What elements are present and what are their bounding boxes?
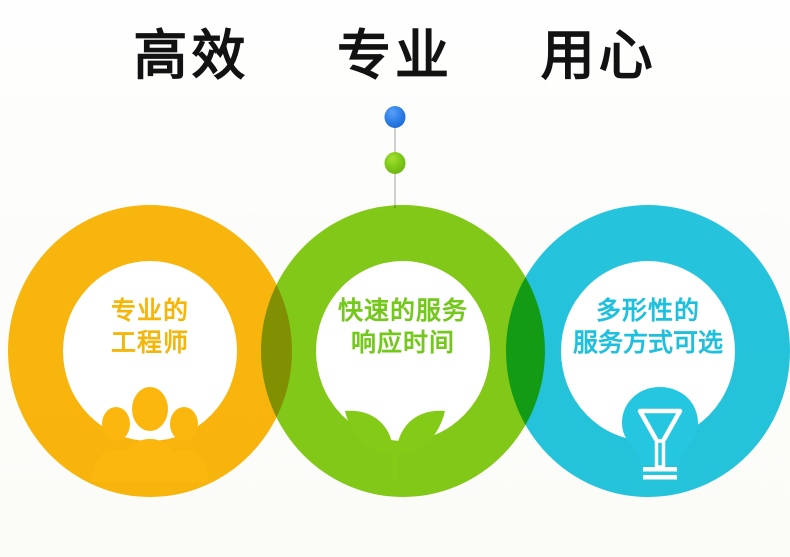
circle-label-response-time-line1: 快速的服务	[273, 295, 533, 327]
lightbulb-icon	[600, 385, 720, 480]
sprout-leaf-icon	[335, 385, 455, 480]
circle-label-service-modes-line1: 多形性的	[518, 295, 778, 327]
circle-label-engineers: 专业的 工程师	[20, 295, 280, 359]
venn-diagram: 专业的 工程师 快速的服务 响应时间 多形性的 服务方式可选	[0, 195, 790, 515]
page-title: 高效 专业 用心	[0, 28, 790, 85]
circle-label-service-modes: 多形性的 服务方式可选	[518, 295, 778, 359]
circle-label-engineers-line1: 专业的	[20, 295, 280, 327]
circle-label-response-time-line2: 响应时间	[273, 327, 533, 359]
connector-ornament	[0, 100, 790, 210]
headline-segment-1: 高效	[133, 28, 249, 85]
green-node-icon	[385, 152, 406, 174]
circle-label-service-modes-line2: 服务方式可选	[518, 327, 778, 359]
people-group-icon	[90, 387, 210, 482]
blue-node-icon	[385, 106, 406, 128]
headline-segment-2: 专业	[337, 28, 453, 85]
circle-label-engineers-line2: 工程师	[20, 327, 280, 359]
headline-segment-3: 用心	[541, 28, 657, 85]
circle-label-response-time: 快速的服务 响应时间	[273, 295, 533, 359]
infographic-canvas: 高效 专业 用心	[0, 0, 790, 557]
